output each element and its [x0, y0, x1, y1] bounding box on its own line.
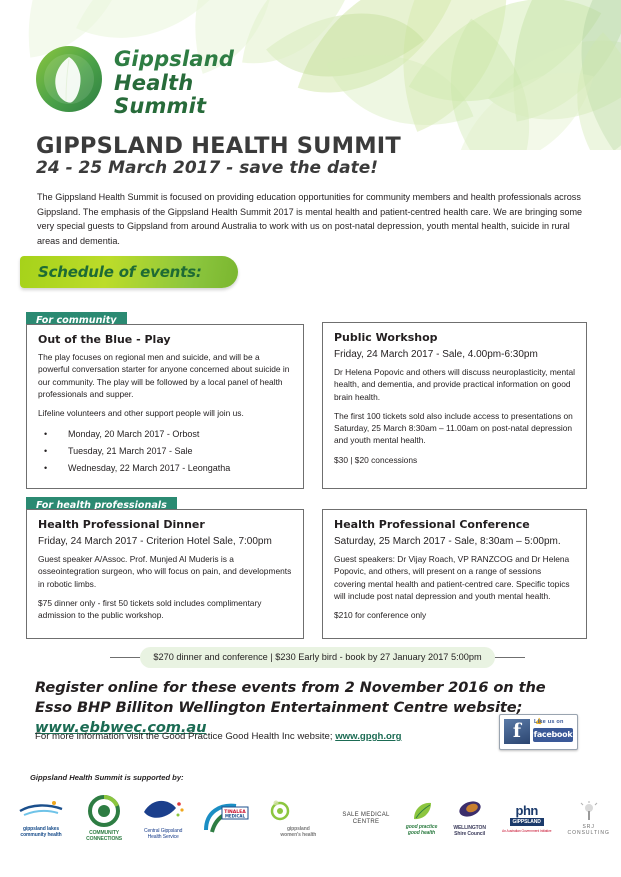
price-strip: $270 dinner and conference | $230 Early …: [140, 647, 495, 668]
facebook-badge[interactable]: f 👍 Like us on facebook: [499, 714, 578, 750]
gpgh-link[interactable]: www.gpgh.org: [335, 731, 401, 742]
srj-consulting-icon: [579, 800, 599, 822]
register-text-before: Register online for these events from 2 …: [35, 679, 546, 716]
community-connections-icon: [84, 794, 124, 828]
logo: Gippsland Health Summit: [32, 42, 292, 124]
sponsor-srj-consulting: SRJCONSULTING: [567, 792, 609, 844]
event-card-workshop: Public Workshop Friday, 24 March 2017 - …: [322, 322, 587, 489]
workshop-description: Dr Helena Popovic and others will discus…: [334, 366, 575, 403]
more-info-before: For more information visit the Good Prac…: [35, 731, 335, 742]
event-card-dinner: Health Professional Dinner Friday, 24 Ma…: [26, 509, 304, 639]
sponsor-good-practice-good-health: good practicegood health: [406, 792, 437, 844]
sponsor-tinalea-medical-centre: TINALEA MEDICAL: [202, 792, 254, 844]
register-text: Register online for these events from 2 …: [35, 678, 565, 738]
good-practice-leaf-icon: [411, 800, 433, 822]
sponsor-logos: gippsland lakescommunity health COMMUNIT…: [14, 790, 610, 846]
wellington-shire-icon: [457, 799, 483, 823]
workshop-datetime: Friday, 24 March 2017 - Sale, 4.00pm-6:3…: [334, 349, 575, 360]
sponsor-label: COMMUNITYCONNECTIONS: [86, 830, 122, 842]
play-dates-list: Monday, 20 March 2017 - Orbost Tuesday, …: [38, 426, 292, 477]
sponsor-label: GIPPSLAND: [510, 818, 544, 826]
tinalea-medical-icon: TINALEA MEDICAL: [202, 800, 254, 836]
schedule-banner: Schedule of events:: [20, 256, 238, 288]
conference-datetime: Saturday, 25 March 2017 - Sale, 8:30am –…: [334, 536, 575, 547]
sponsor-label: gippslandwomen's health: [280, 826, 316, 838]
workshop-title: Public Workshop: [334, 331, 575, 344]
dinner-datetime: Friday, 24 March 2017 - Criterion Hotel …: [38, 536, 292, 547]
sponsor-label: Central GippslandHealth Service: [144, 828, 182, 840]
sponsor-community-connections: COMMUNITYCONNECTIONS: [84, 792, 124, 844]
svg-text:MEDICAL: MEDICAL: [225, 814, 246, 819]
leaf-in-circle-icon: [32, 42, 106, 116]
list-item: Tuesday, 21 March 2017 - Sale: [38, 443, 292, 460]
sponsor-phn-gippsland: phn GIPPSLAND An Australian Government I…: [502, 792, 551, 844]
sponsor-gippsland-womens-health: gippslandwomen's health: [270, 792, 326, 844]
page-title: GIPPSLAND HEALTH SUMMIT: [36, 133, 401, 159]
conference-speakers: Guest speakers: Dr Vijay Roach, VP RANZC…: [334, 553, 575, 602]
sponsor-label: WELLINGTONShire Council: [453, 825, 486, 837]
conference-price: $210 for conference only: [334, 609, 575, 621]
sponsor-label: gippsland lakescommunity health: [20, 826, 61, 838]
sponsor-phn-tagline: An Australian Government Initiative: [502, 828, 551, 834]
facebook-wordmark: facebook: [533, 728, 573, 742]
event-card-conference: Health Professional Conference Saturday,…: [322, 509, 587, 639]
facebook-like-label: Like us on: [534, 719, 564, 725]
gippsland-lakes-icon: [14, 798, 68, 824]
workshop-price: $30 | $20 concessions: [334, 454, 575, 466]
sponsor-sale-medical-centre: SALE MEDICALCENTRE: [342, 792, 389, 844]
list-item: Wednesday, 22 March 2017 - Leongatha: [38, 460, 292, 477]
intro-paragraph: The Gippsland Health Summit is focused o…: [37, 190, 585, 248]
list-item: Monday, 20 March 2017 - Orbost: [38, 426, 292, 443]
dinner-title: Health Professional Dinner: [38, 518, 292, 531]
supporters-caption: Gippsland Health Summit is supported by:: [30, 773, 184, 782]
more-info-text: For more information visit the Good Prac…: [35, 731, 495, 742]
sponsor-label: good practicegood health: [406, 824, 437, 836]
event-card-play: Out of the Blue - Play The play focuses …: [26, 324, 304, 489]
sponsor-wellington-shire-council: WELLINGTONShire Council: [453, 792, 486, 844]
central-gippsland-icon: [140, 796, 186, 826]
dinner-speaker: Guest speaker A/Assoc. Prof. Munjed Al M…: [38, 553, 292, 590]
sponsor-gippsland-lakes-community-health: gippsland lakescommunity health: [14, 792, 68, 844]
schedule-banner-label: Schedule of events:: [38, 263, 202, 281]
gippsland-womens-health-icon: [270, 798, 326, 824]
flyer-page: Gippsland Health Summit GIPPSLAND HEALTH…: [0, 0, 621, 877]
price-rule-right: [493, 657, 525, 658]
page-subtitle: 24 - 25 March 2017 - save the date!: [36, 158, 378, 178]
logo-wordmark: Gippsland Health Summit: [114, 48, 292, 119]
sponsor-phn-wordmark: phn: [516, 804, 538, 817]
sponsor-central-gippsland-health-service: Central GippslandHealth Service: [140, 792, 186, 844]
sponsor-label: SRJCONSULTING: [567, 824, 609, 836]
workshop-tickets-note: The first 100 tickets sold also include …: [334, 410, 575, 447]
price-rule-left: [110, 657, 142, 658]
dinner-price: $75 dinner only - first 50 tickets sold …: [38, 597, 292, 622]
conference-title: Health Professional Conference: [334, 518, 575, 531]
facebook-icon: f: [504, 719, 530, 744]
logo-line-1: Gippsland: [114, 48, 292, 72]
play-lifeline-note: Lifeline volunteers and other support pe…: [38, 407, 292, 419]
play-description: The play focuses on regional men and sui…: [38, 351, 292, 400]
play-title: Out of the Blue - Play: [38, 333, 292, 346]
sponsor-label: SALE MEDICALCENTRE: [342, 812, 389, 826]
logo-line-2: Health Summit: [114, 72, 292, 119]
